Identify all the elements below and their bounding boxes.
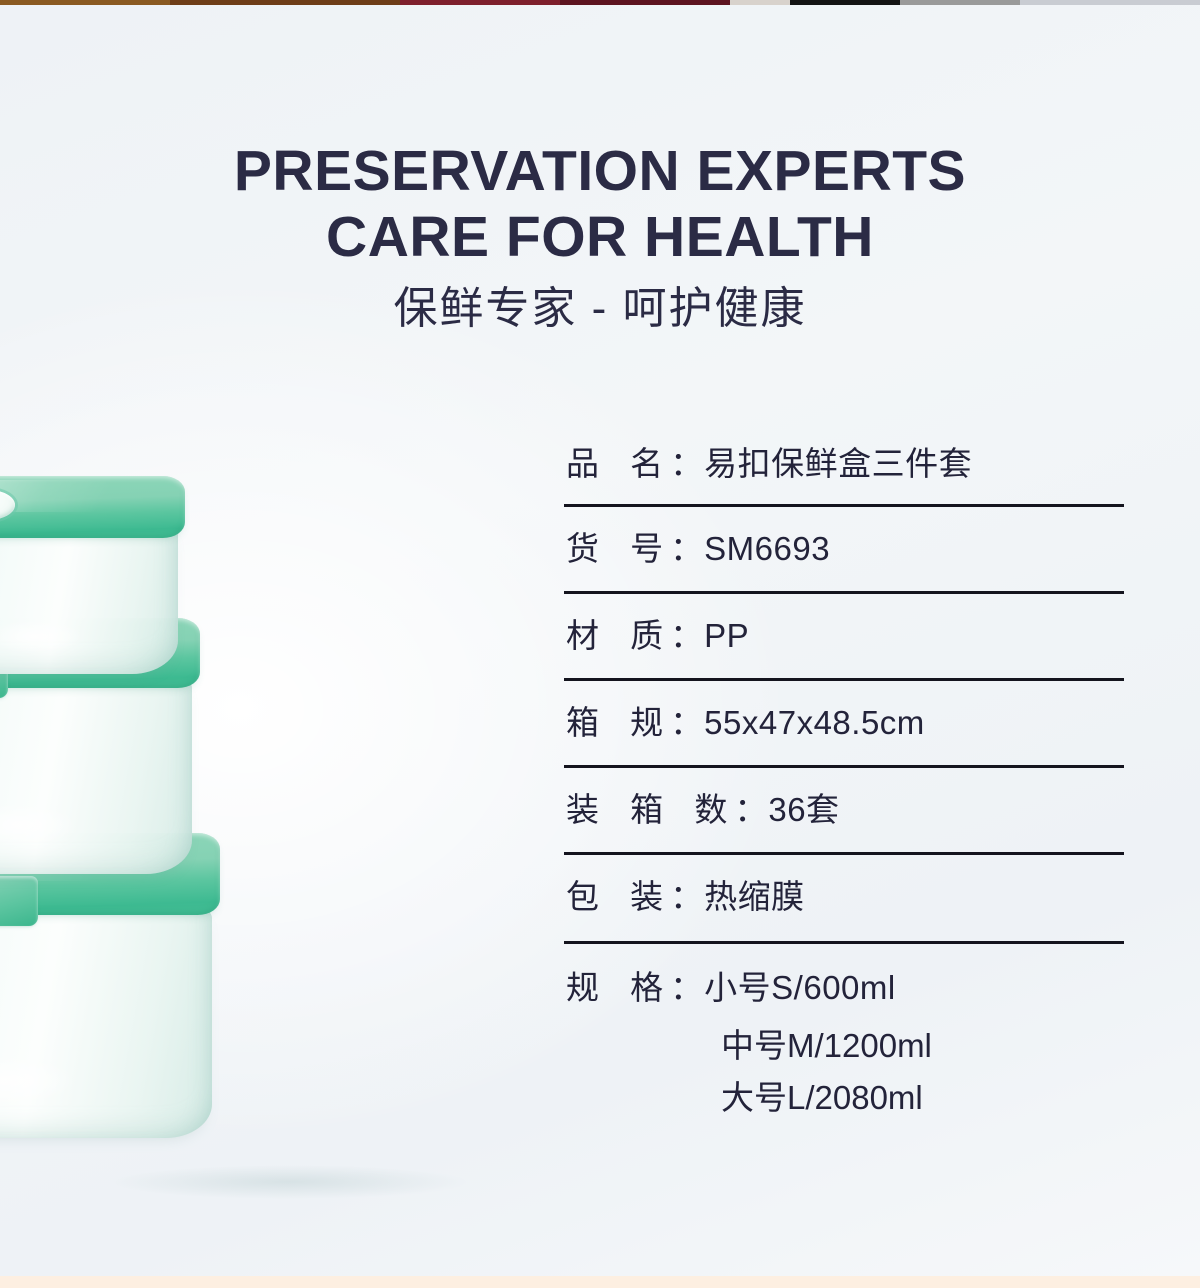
spec-value-size-medium: 中号M/1200ml [721,1020,1124,1072]
spec-label-packaging: 包 装 [566,877,674,917]
container-large-clip [0,876,38,926]
spec-value-product-name: 易扣保鲜盒三件套 [704,444,972,484]
spec-row-material: 材 质 ： PP [564,591,1124,678]
headline-chinese: 保鲜专家 - 呵护健康 [0,283,1200,335]
page-title: PRESERVATION EXPERTS CARE FOR HEALTH 保鲜专… [0,138,1200,335]
spec-row-specification: 规 格 ： 小号S/600ml 中号M/1200ml 大号L/2080ml [564,941,1124,1134]
spec-value-size-small: 小号S/600ml [704,968,896,1008]
spec-value-carton-quantity: 36套 [768,790,839,830]
spec-value-item-number: SM6693 [704,529,830,569]
spec-label-product-name: 品 名 [566,444,674,484]
spec-row-carton-quantity: 装 箱 数 ： 36套 [564,765,1124,852]
spec-label-material: 材 质 [566,616,674,656]
headline-english-line2: CARE FOR HEALTH [0,204,1200,270]
spec-value-size-large: 大号L/2080ml [721,1072,1124,1124]
spec-value-material: PP [704,616,749,656]
spec-colon: ： [670,529,703,569]
bottom-edge-band [0,1276,1200,1288]
spec-colon: ： [670,968,703,1008]
page-background: PRESERVATION EXPERTS CARE FOR HEALTH 保鲜专… [0,0,1200,1288]
spec-label-carton-size: 箱 规 [566,703,674,743]
container-small-body [0,524,178,674]
spec-label-specification: 规 格 [566,968,674,1008]
spec-value-packaging: 热缩膜 [704,877,805,917]
spec-row-item-number: 货 号 ： SM6693 [564,504,1124,591]
container-small-lid-sheen [0,480,175,512]
container-medium-body [0,678,192,874]
stack-shadow [110,1165,466,1199]
spec-row-packaging: 包 装 ： 热缩膜 [564,852,1124,941]
spec-row-carton-size: 箱 规 ： 55x47x48.5cm [564,678,1124,765]
spec-label-carton-quantity: 装 箱 数 [566,790,738,830]
spec-colon: ： [734,790,767,830]
specification-table: 品 名 ： 易扣保鲜盒三件套 货 号 ： SM6693 材 质 ： PP 箱 规… [564,430,1124,1134]
container-small-lid [0,476,185,538]
container-large-body [0,908,212,1138]
spec-label-item-number: 货 号 [566,529,674,569]
headline-english-line1: PRESERVATION EXPERTS [0,138,1200,204]
spec-colon: ： [670,703,703,743]
product-image [52,478,522,1193]
spec-colon: ： [670,877,703,917]
spec-row-product-name: 品 名 ： 易扣保鲜盒三件套 [564,430,1124,504]
spec-colon: ： [670,444,703,484]
spec-colon: ： [670,616,703,656]
spec-size-list: 中号M/1200ml 大号L/2080ml [566,1020,1124,1124]
spec-value-carton-size: 55x47x48.5cm [704,703,925,743]
top-edge-sliver [0,0,1200,5]
